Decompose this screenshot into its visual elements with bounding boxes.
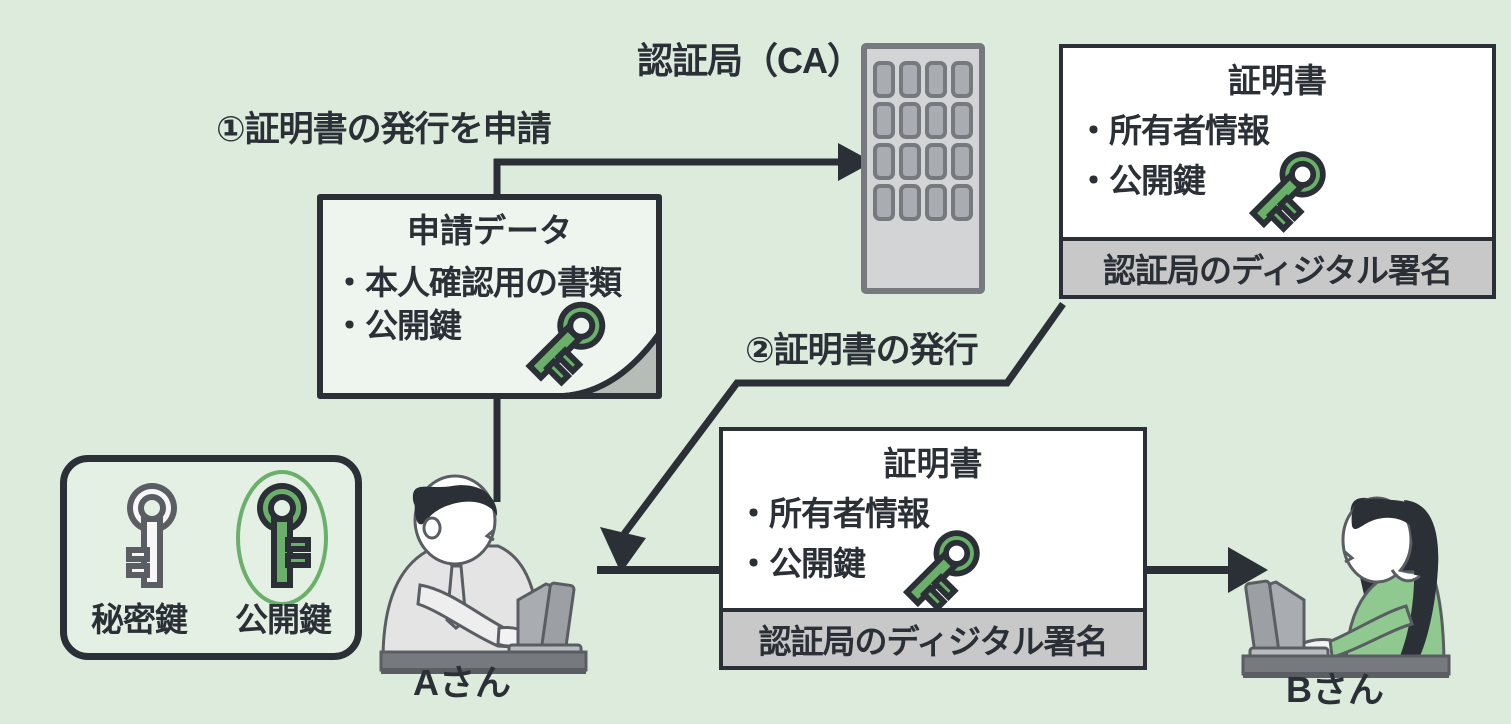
ca-title: 認証局（CA）	[637, 42, 862, 80]
step-1-label: ①証明書の発行を申請	[216, 112, 551, 149]
arrow-step-1	[497, 143, 873, 196]
private-key-label: 秘密鍵	[91, 593, 187, 641]
server-slot	[899, 61, 921, 98]
server-slot	[951, 184, 973, 221]
server-slot	[873, 61, 895, 98]
certificate-bottom-signature: 認証局のディジタル署名	[719, 612, 1147, 670]
person-a-label: Aさん	[413, 664, 511, 702]
server-slot	[951, 61, 973, 98]
person-b-label: Bさん	[1286, 671, 1384, 709]
server-slot	[925, 61, 947, 98]
key-legend: 秘密鍵 公開鍵	[60, 455, 362, 660]
certificate-bottom-title: 証明書	[723, 431, 1143, 485]
private-key-icon	[107, 478, 197, 598]
certificate-bottom: 証明書 ・所有者情報 ・公開鍵 認証局のディジタル署名	[719, 427, 1147, 670]
server-slot	[873, 143, 895, 180]
certificate-bottom-body: 証明書 ・所有者情報 ・公開鍵	[719, 427, 1147, 612]
certificate-top-signature: 認証局のディジタル署名	[1059, 241, 1496, 299]
server-slot	[925, 143, 947, 180]
server-slot	[873, 102, 895, 139]
request-document-title: 申請データ	[317, 204, 662, 252]
step-2-label: ②証明書の発行	[745, 333, 978, 370]
certificate-top-body: 証明書 ・所有者情報 ・公開鍵	[1059, 44, 1496, 241]
server-slot	[899, 143, 921, 180]
server-slot	[873, 184, 895, 221]
public-key-icon	[513, 290, 617, 394]
server-slot	[899, 184, 921, 221]
server-slot	[899, 102, 921, 139]
public-key-icon	[1237, 140, 1337, 240]
diagram-canvas: 申請データ ・本人確認用の書類 ・公開鍵 証明書 ・所有者情報 ・公開鍵	[0, 0, 1511, 724]
public-key-icon	[891, 519, 991, 619]
public-key-icon-highlighted	[227, 468, 337, 608]
server-slot	[951, 143, 973, 180]
certificate-top-title: 証明書	[1063, 48, 1492, 102]
server-slot	[925, 184, 947, 221]
public-key-label: 公開鍵	[235, 593, 331, 641]
server-slot-grid	[873, 61, 973, 221]
request-document-item-2: ・公開鍵	[333, 299, 461, 347]
request-data-document: 申請データ ・本人確認用の書類 ・公開鍵	[317, 194, 662, 399]
server-slot	[925, 102, 947, 139]
certificate-top: 証明書 ・所有者情報 ・公開鍵 認証局のディジタル署名	[1059, 44, 1496, 299]
certificate-authority-server	[861, 43, 985, 294]
server-slot	[951, 102, 973, 139]
